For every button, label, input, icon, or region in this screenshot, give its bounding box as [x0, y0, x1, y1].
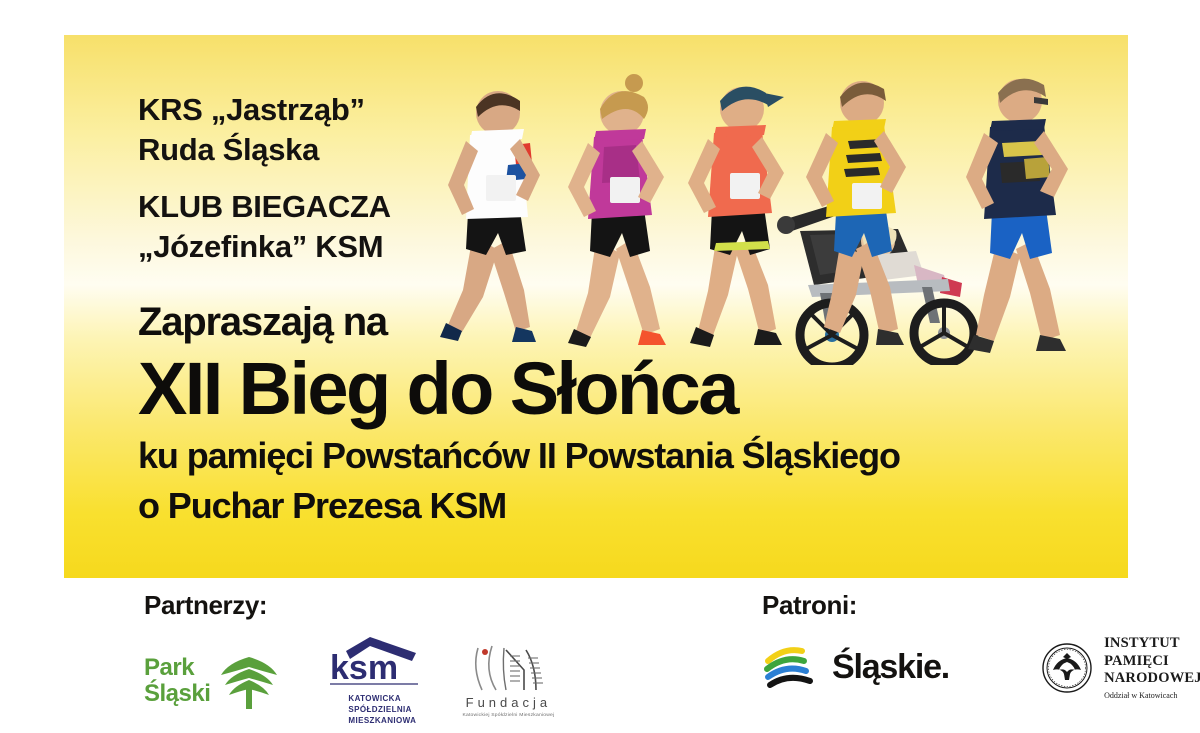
- yellow-banner: KRS „Jastrząb” Ruda Śląska KLUB BIEGACZA…: [64, 35, 1128, 578]
- ksm-roof-wordmark-icon: ksm: [324, 635, 424, 687]
- ipn-logo[interactable]: INSTYTUT PAMIĘCI NARODOWEJ Oddział w Kat…: [1041, 635, 1200, 700]
- park-tree-icon: [218, 651, 280, 711]
- event-subtitle-line-1: ku pamięci Powstańców II Powstania Śląsk…: [138, 433, 1118, 479]
- partners-heading: Partnerzy:: [144, 590, 554, 621]
- ipn-line-3: NARODOWEJ: [1104, 670, 1200, 688]
- slaskie-logo[interactable]: Śląskie.: [762, 645, 949, 691]
- park-slaski-line-1: Park: [144, 655, 210, 681]
- patron-logos-row: Śląskie. INSTYTUT PAMIĘC: [762, 635, 1200, 700]
- patrons-column: Patroni: Śląskie.: [762, 590, 1200, 700]
- park-slaski-logo[interactable]: Park Śląski: [144, 651, 280, 711]
- club-group: KLUB BIEGACZA „Józefinka” KSM: [138, 187, 1118, 268]
- ipn-eagle-seal-icon: [1041, 642, 1093, 694]
- ipn-line-1: INSTYTUT: [1104, 635, 1200, 653]
- club-line-1: KLUB BIEGACZA: [138, 187, 1118, 227]
- ipn-line-2: PAMIĘCI: [1104, 653, 1200, 671]
- partners-column: Partnerzy: Park Śląski: [144, 590, 554, 726]
- ksm-subtitle-line-2: SPÓŁDZIELNIA: [348, 705, 424, 716]
- poster-text-block: KRS „Jastrząb” Ruda Śląska KLUB BIEGACZA…: [138, 90, 1118, 529]
- fundacja-mark-icon: [462, 644, 554, 692]
- ksm-subtitle-line-1: KATOWICKA: [348, 694, 424, 705]
- fundacja-label: Fundacja: [462, 695, 554, 710]
- park-slaski-line-2: Śląski: [144, 681, 210, 707]
- ksm-logo[interactable]: ksm KATOWICKA SPÓŁDZIELNIA MIESZKANIOWA: [324, 635, 424, 726]
- organizer-group: KRS „Jastrząb” Ruda Śląska: [138, 90, 1118, 171]
- fundacja-logo[interactable]: Fundacja Katowickiej Spółdzielni Mieszka…: [462, 644, 554, 718]
- event-title: XII Bieg do Słońca: [138, 351, 1118, 426]
- fundacja-subtitle: Katowickiej Spółdzielni Mieszkaniowej: [462, 712, 554, 717]
- ksm-subtitle: KATOWICKA SPÓŁDZIELNIA MIESZKANIOWA: [324, 694, 424, 726]
- svg-text:ksm: ksm: [330, 649, 398, 687]
- slaskie-waves-icon: [762, 645, 822, 691]
- event-subtitle-line-2: o Puchar Prezesa KSM: [138, 483, 1118, 529]
- partner-logos-row: Park Śląski: [144, 635, 554, 726]
- ksm-subtitle-line-3: MIESZKANIOWA: [348, 716, 424, 727]
- organizer-line-1: KRS „Jastrząb”: [138, 90, 1118, 130]
- poster-root: KRS „Jastrząb” Ruda Śląska KLUB BIEGACZA…: [0, 0, 1200, 733]
- ipn-wordmark: INSTYTUT PAMIĘCI NARODOWEJ Oddział w Kat…: [1104, 635, 1200, 700]
- ipn-branch-label: Oddział w Katowicach: [1104, 691, 1200, 700]
- patrons-heading: Patroni:: [762, 590, 1200, 621]
- organizer-line-2: Ruda Śląska: [138, 130, 1118, 170]
- invitation-text: Zapraszają na: [138, 301, 1118, 343]
- footer: Partnerzy: Park Śląski: [0, 578, 1200, 733]
- slaskie-label: Śląskie.: [832, 648, 949, 687]
- park-slaski-wordmark: Park Śląski: [144, 655, 210, 707]
- club-line-2: „Józefinka” KSM: [138, 227, 1118, 267]
